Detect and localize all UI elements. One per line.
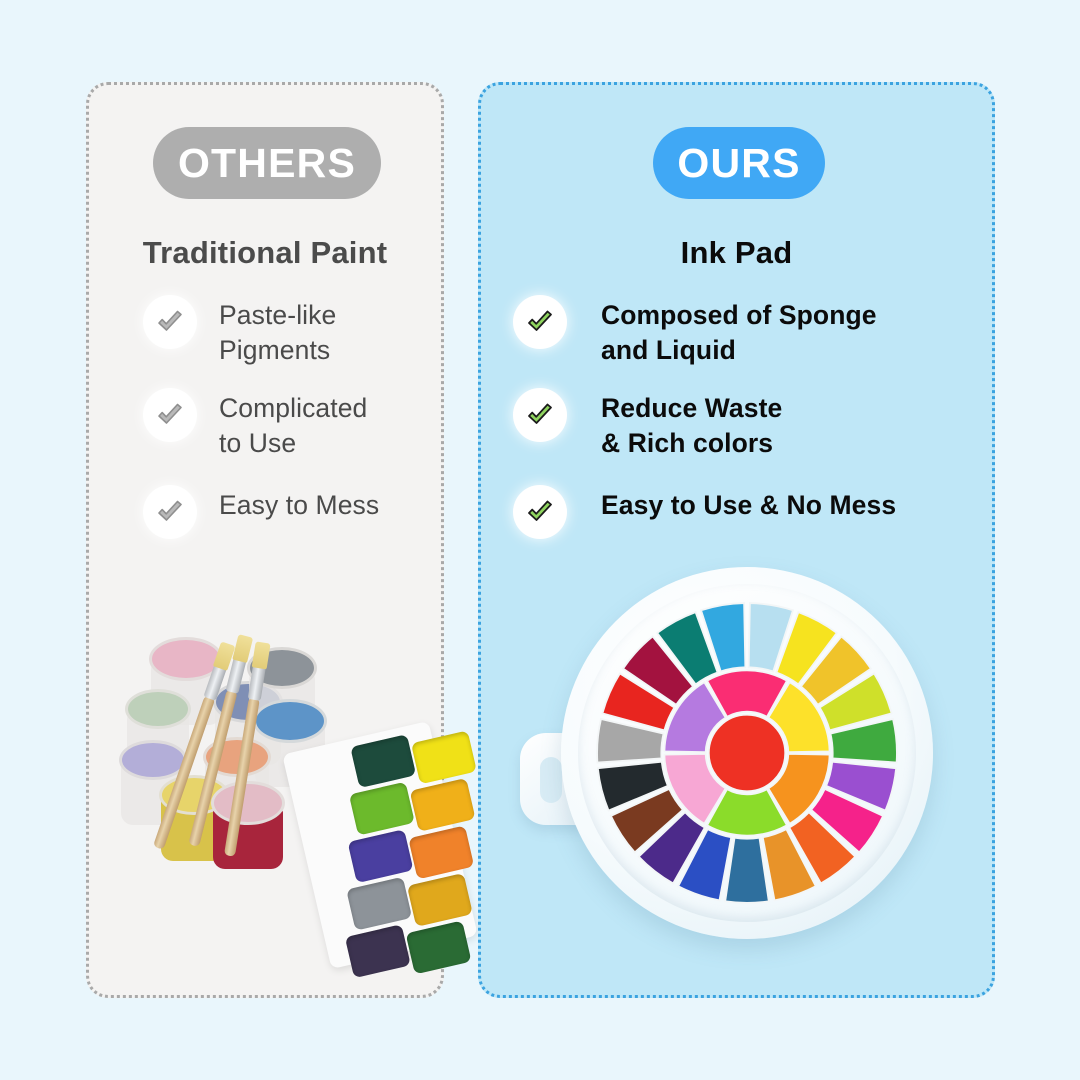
check-icon	[143, 388, 197, 442]
ours-feature-text-2: Reduce Waste & Rich colors	[601, 388, 782, 461]
feature-line-1: Paste-like	[219, 300, 336, 330]
others-badge-label: OTHERS	[178, 140, 356, 187]
ours-feature-text-3: Easy to Use & No Mess	[601, 485, 896, 523]
feature-line-1: Composed of Sponge	[601, 300, 877, 330]
feature-line-2: & Rich colors	[601, 428, 773, 458]
color-wheel-svg	[594, 600, 900, 906]
others-feature-text-2: Complicated to Use	[219, 388, 367, 461]
ours-badge: OURS	[653, 127, 825, 199]
feature-line-1: Reduce Waste	[601, 393, 782, 423]
check-icon	[513, 388, 567, 442]
others-panel: OTHERS Traditional Paint Paste-like Pigm…	[86, 82, 444, 998]
ink-pad-color-wheel	[594, 600, 900, 906]
others-feature-text-1: Paste-like Pigments	[219, 295, 336, 368]
feature-line-2: to Use	[219, 428, 296, 458]
ours-feature-item-1: Composed of Sponge and Liquid	[513, 295, 973, 368]
feature-line-2: Pigments	[219, 335, 330, 365]
infographic-canvas: OTHERS Traditional Paint Paste-like Pigm…	[0, 0, 1080, 1080]
check-icon	[513, 295, 567, 349]
others-subtitle: Traditional Paint	[89, 235, 441, 271]
others-feature-item-2: Complicated to Use	[143, 388, 443, 461]
check-icon	[143, 295, 197, 349]
ours-feature-item-2: Reduce Waste & Rich colors	[513, 388, 973, 461]
others-feature-item-1: Paste-like Pigments	[143, 295, 433, 368]
ours-subtitle: Ink Pad	[481, 235, 992, 271]
traditional-paint-photo	[109, 585, 449, 965]
check-icon	[143, 485, 197, 539]
ink-pad-tray	[506, 525, 966, 965]
ours-panel: OURS Ink Pad Composed of Sponge and Liqu…	[478, 82, 995, 998]
others-badge: OTHERS	[153, 127, 381, 199]
others-feature-item-3: Easy to Mess	[143, 485, 443, 539]
others-feature-text-3: Easy to Mess	[219, 485, 379, 523]
ours-feature-text-1: Composed of Sponge and Liquid	[601, 295, 877, 368]
ours-badge-label: OURS	[677, 140, 800, 187]
ink-pad-photo	[506, 525, 966, 965]
feature-line-2: and Liquid	[601, 335, 736, 365]
feature-line-1: Complicated	[219, 393, 367, 423]
